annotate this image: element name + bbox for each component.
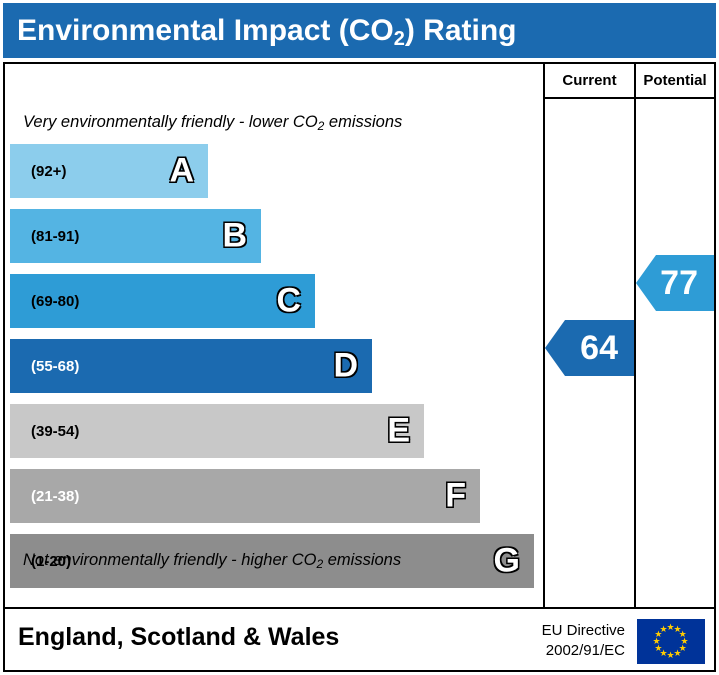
band-range-d: (55-68)	[10, 358, 79, 375]
band-range-b: (81-91)	[10, 228, 79, 245]
band-bar-a: (92+) A	[10, 144, 208, 198]
band-bar-b: (81-91) B	[10, 209, 261, 263]
potential-rating-marker: 77	[656, 255, 714, 311]
column-header-potential: Potential	[636, 64, 714, 97]
band-bar-f: (21-38) F	[10, 469, 480, 523]
caption-bottom-sub: 2	[316, 557, 323, 571]
bands-area: Very environmentally friendly - lower CO…	[5, 99, 543, 607]
header-underline	[543, 97, 714, 99]
caption-top: Very environmentally friendly - lower CO…	[23, 113, 402, 132]
page-title: Environmental Impact (CO2) Rating	[3, 14, 517, 48]
band-range-c: (69-80)	[10, 293, 79, 310]
eu-directive-label: EU Directive 2002/91/EC	[542, 621, 625, 661]
band-letter-d: D	[333, 347, 358, 386]
band-letter-b: B	[222, 217, 247, 256]
eu-star-icon: ★	[674, 649, 682, 658]
eu-star-icon: ★	[667, 651, 675, 660]
potential-rating-value: 77	[660, 255, 714, 311]
band-range-e: (39-54)	[10, 423, 79, 440]
band-bar-c: (69-80) C	[10, 274, 315, 328]
epc-environmental-impact-chart: Environmental Impact (CO2) Rating Curren…	[0, 0, 719, 675]
eu-star-icon: ★	[660, 625, 668, 634]
band-letter-g: G	[494, 542, 520, 581]
column-headers: Current Potential	[5, 64, 714, 97]
chart-frame: Current Potential Very environmentally f…	[3, 62, 716, 609]
column-header-current: Current	[545, 64, 634, 97]
title-bar: Environmental Impact (CO2) Rating	[3, 3, 716, 58]
title-pre: Environmental Impact (CO	[17, 14, 394, 47]
footer-bar: England, Scotland & Wales EU Directive 2…	[3, 609, 716, 672]
eu-directive-line1: EU Directive	[542, 621, 625, 641]
footer-region-label: England, Scotland & Wales	[18, 623, 339, 652]
caption-bottom-pre: Not environmentally friendly - higher CO	[23, 551, 316, 569]
band-bar-d: (55-68) D	[10, 339, 372, 393]
current-rating-marker: 64	[565, 320, 634, 376]
eu-directive-line2: 2002/91/EC	[542, 641, 625, 661]
band-letter-c: C	[276, 282, 301, 321]
band-letter-f: F	[445, 477, 466, 516]
eu-flag-icon: ★★★★★★★★★★★★	[637, 619, 705, 664]
band-bar-e: (39-54) E	[10, 404, 424, 458]
caption-bottom-post: emissions	[323, 551, 401, 569]
caption-top-post: emissions	[324, 113, 402, 131]
divider-potential	[634, 64, 636, 607]
current-rating-arrow	[545, 320, 565, 376]
band-range-f: (21-38)	[10, 488, 79, 505]
band-letter-a: A	[169, 152, 194, 191]
band-range-a: (92+)	[10, 163, 66, 180]
band-letter-e: E	[387, 412, 410, 451]
caption-top-sub: 2	[318, 119, 325, 133]
title-subscript: 2	[394, 28, 405, 50]
caption-bottom: Not environmentally friendly - higher CO…	[23, 551, 401, 570]
title-post: ) Rating	[405, 14, 517, 47]
caption-top-pre: Very environmentally friendly - lower CO	[23, 113, 318, 131]
potential-rating-arrow	[636, 255, 656, 311]
current-rating-value: 64	[580, 320, 634, 376]
